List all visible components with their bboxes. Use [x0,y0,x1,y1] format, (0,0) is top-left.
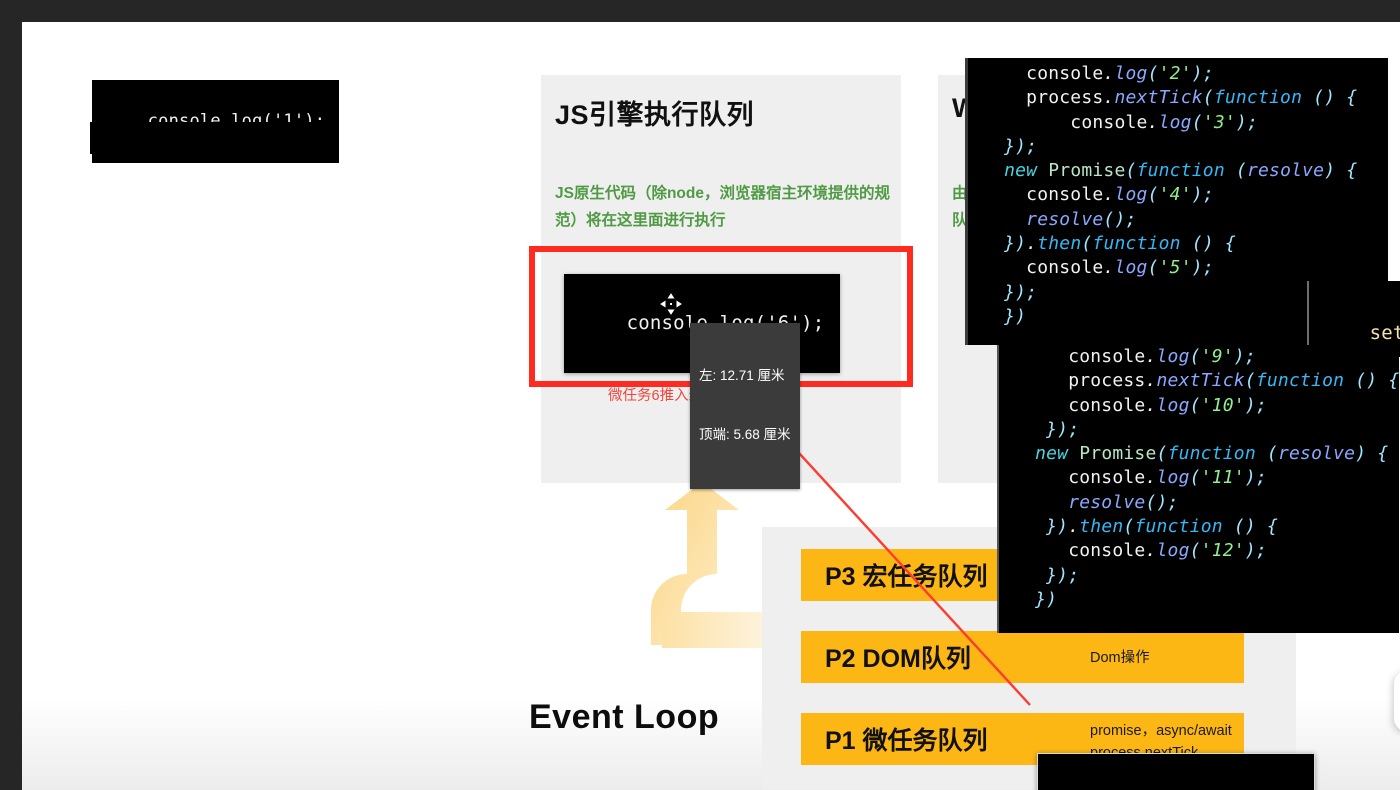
code-line: console.log('9'); [999,345,1399,369]
code-line: console.log('2'); [968,62,1388,86]
queue-bar-macrotask-label: P3 宏任务队列 [801,557,988,593]
js-engine-panel-title: JS引擎执行队列 [555,93,754,132]
code-line: console.log('12'); [999,539,1399,563]
code-line: console.log('3'); [968,111,1388,135]
code-line: console.log('10'); [999,394,1399,418]
code-line: new Promise(function (resolve) { [999,442,1399,466]
code-line: console.log('5'); [968,256,1388,280]
tooltip-top-value: 顶端: 5.68 厘米 [699,425,791,445]
code-window-bottom[interactable]: console.log('9'); process.nextTick(funct… [997,345,1399,633]
tooltip-left-value: 左: 12.71 厘米 [699,366,791,386]
code-line: process.nextTick(function () { [968,86,1388,110]
code-line: }).then(function () { [968,232,1388,256]
code-snippet-log8[interactable]: console.log('8'); [1037,753,1315,790]
code-line: }); [999,564,1399,588]
code-line: }) [999,588,1399,612]
code-line: resolve(); [999,491,1399,515]
code-snippet-log7[interactable]: console.log('7'); [90,122,337,154]
code-line: console.log('11'); [999,466,1399,490]
event-loop-title: Event Loop [529,698,719,737]
code-line: }).then(function () { [999,515,1399,539]
snippet-log7-text: console.log('7'); [146,152,323,154]
code-line: resolve(); [968,208,1388,232]
queue-bar-dom-note: Dom操作 [1090,648,1150,670]
bottom-right-card[interactable] [1394,670,1400,732]
queue-bar-microtask-label: P1 微任务队列 [801,721,988,757]
code-line: }); [968,135,1388,159]
settimeout-text: setTi [1370,322,1400,344]
js-engine-panel-description: JS原生代码（除node，浏览器宿主环境提供的规范）将在这里面进行执行 [555,180,895,234]
position-tooltip: 左: 12.71 厘米 顶端: 5.68 厘米 [690,323,800,489]
code-line: new Promise(function (resolve) { [968,159,1388,183]
queue-bar-dom[interactable]: P2 DOM队列 Dom操作 [801,631,1244,683]
move-cursor-icon [657,290,685,318]
code-line: }); [999,418,1399,442]
code-line: console.log('4'); [968,183,1388,207]
code-line: process.nextTick(function () { [999,369,1399,393]
slide-canvas: console.log('1'); console.log('7'); JS引擎… [22,22,1400,790]
queue-bar-dom-label: P2 DOM队列 [801,639,971,675]
